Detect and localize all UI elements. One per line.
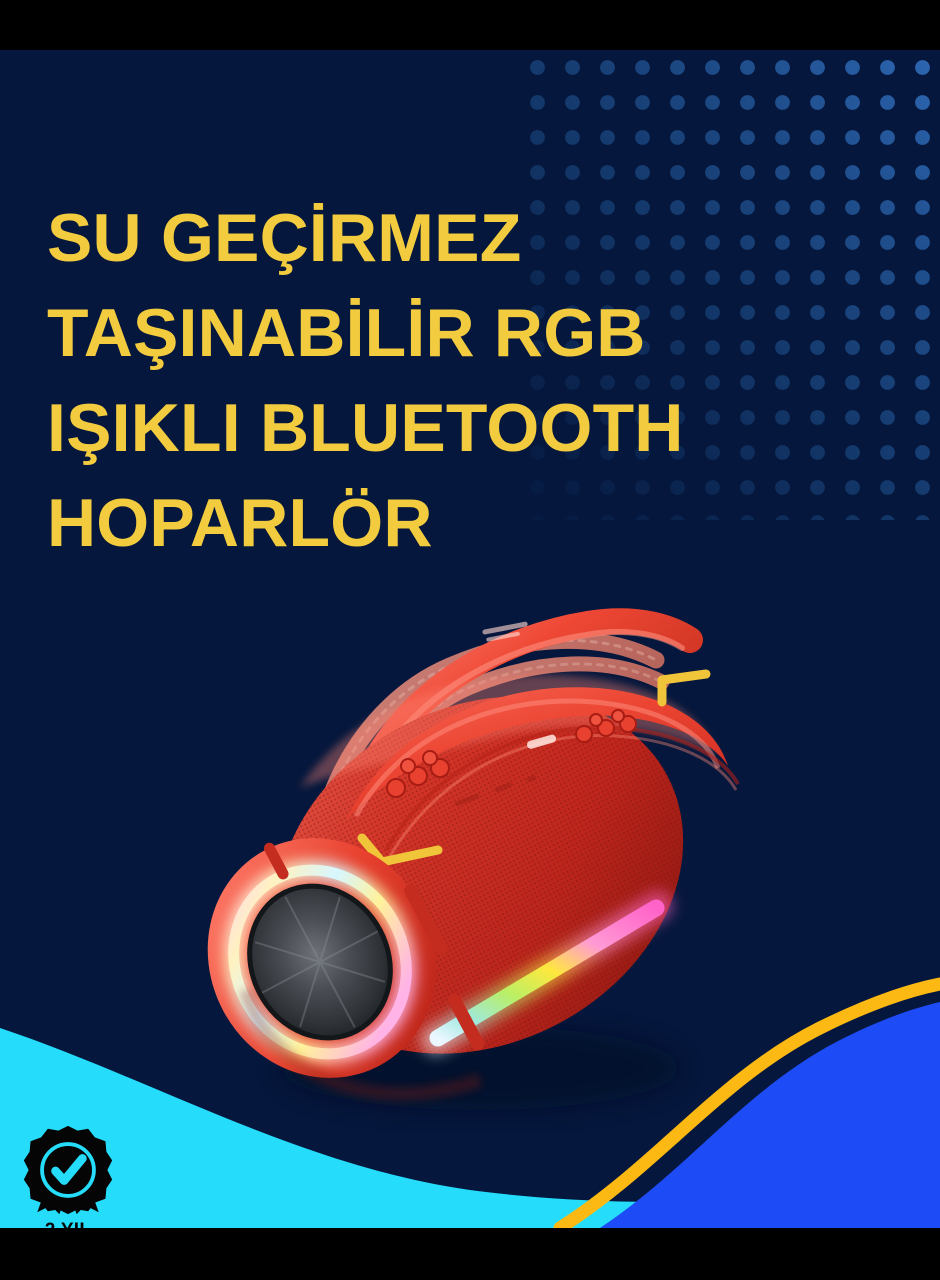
warranty-badge: 2 YIL GARANTİ bbox=[6, 1122, 130, 1228]
wave-shape-blue bbox=[600, 1002, 940, 1228]
headline-line-2: TAŞINABİLİR RGB bbox=[47, 286, 747, 381]
yellow-accent-bracket-right bbox=[662, 674, 706, 702]
headline-line-1: SU GEÇİRMEZ bbox=[47, 191, 747, 286]
warranty-badge-text: 2 YIL GARANTİ bbox=[6, 1220, 130, 1228]
banner-stage: SU GEÇİRMEZ TAŞINABİLİR RGB IŞIKLI BLUET… bbox=[0, 50, 940, 1228]
headline-line-3: IŞIKLI BLUETOOTH bbox=[47, 381, 747, 476]
letterbox-bottom bbox=[0, 1228, 940, 1280]
letterbox-top bbox=[0, 0, 940, 50]
verified-seal-icon bbox=[20, 1122, 116, 1218]
headline: SU GEÇİRMEZ TAŞINABİLİR RGB IŞIKLI BLUET… bbox=[47, 191, 747, 571]
bottom-wave-decoration bbox=[0, 928, 940, 1228]
product-banner: SU GEÇİRMEZ TAŞINABİLİR RGB IŞIKLI BLUET… bbox=[0, 0, 940, 1280]
warranty-line-1: 2 YIL bbox=[6, 1220, 130, 1228]
